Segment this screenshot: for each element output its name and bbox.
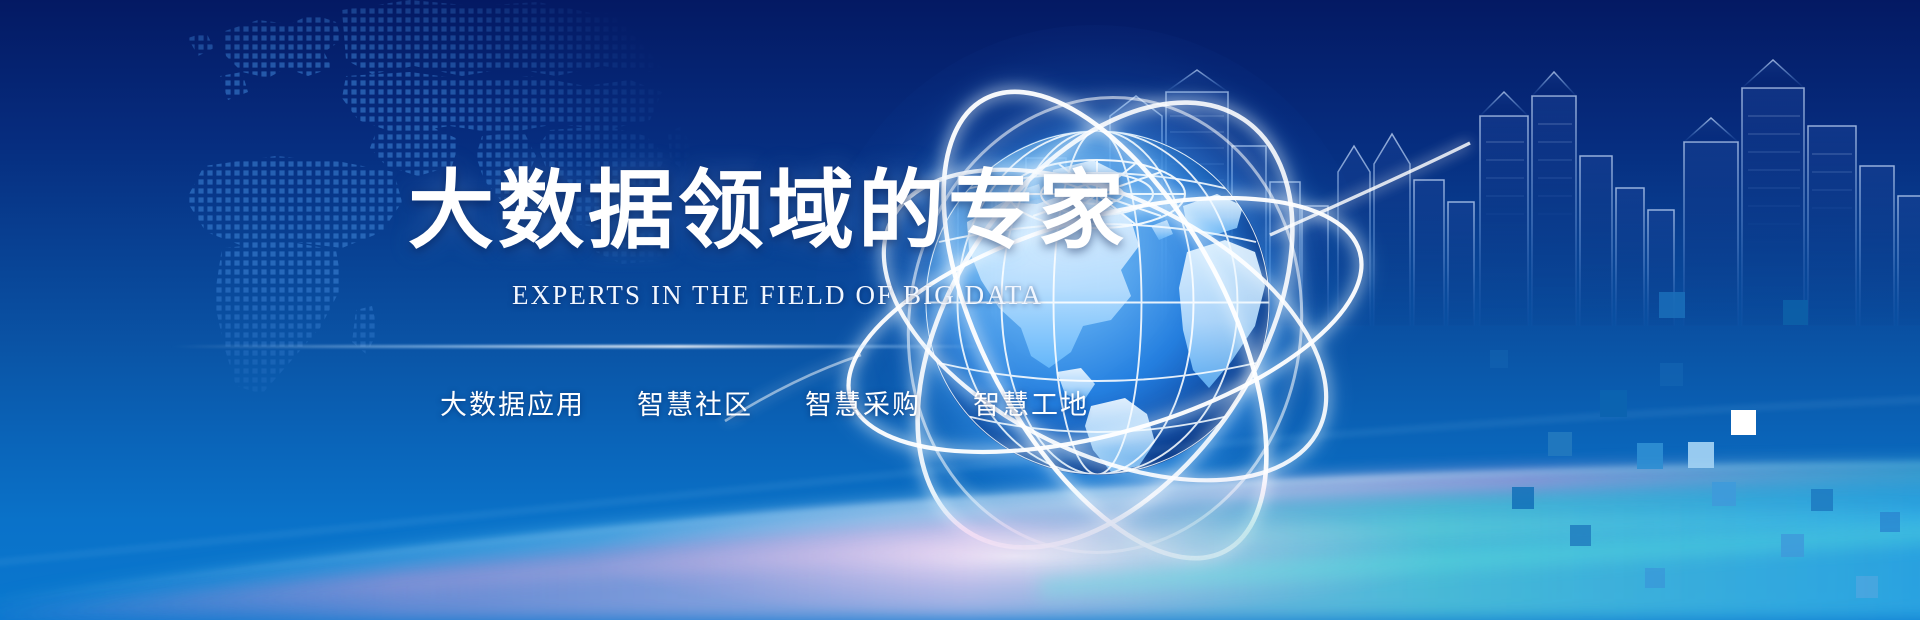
mosaic-square — [1731, 410, 1756, 435]
mosaic-square — [1688, 442, 1714, 468]
mosaic-square — [1856, 576, 1878, 598]
mosaic-square — [1548, 432, 1572, 456]
mosaic-square — [1637, 443, 1663, 469]
mosaic-square — [1570, 525, 1591, 546]
mosaic-square — [1880, 512, 1900, 532]
banner-subtitle: EXPERTS IN THE FIELD OF BIG DATA — [512, 280, 1043, 311]
mosaic-square — [1783, 300, 1808, 325]
divider — [170, 345, 990, 348]
page-title: 大数据领域的专家 — [408, 166, 1128, 256]
mosaic-square — [1600, 390, 1627, 417]
mosaic-square — [1659, 292, 1685, 318]
mosaic-square — [1645, 568, 1665, 588]
mosaic-square — [1660, 363, 1683, 386]
mosaic-square — [1712, 482, 1736, 506]
nav-item-smart-construction[interactable]: 智慧工地 — [973, 383, 1089, 422]
hero-banner: 大数据领域的专家 EXPERTS IN THE FIELD OF BIG DAT… — [0, 0, 1920, 620]
mosaic-square — [1490, 350, 1508, 368]
mosaic-square — [1512, 487, 1534, 509]
mosaic-square — [1781, 534, 1804, 557]
nav-item-big-data-application[interactable]: 大数据应用 — [440, 383, 585, 422]
banner-nav: 大数据应用 智慧社区 智慧采购 智慧工地 — [440, 383, 1089, 422]
banner-text-block: 大数据领域的专家 EXPERTS IN THE FIELD OF BIG DAT… — [0, 0, 1100, 620]
mosaic-square — [1811, 489, 1833, 511]
nav-item-smart-community[interactable]: 智慧社区 — [637, 383, 753, 422]
nav-item-smart-procurement[interactable]: 智慧采购 — [805, 383, 921, 422]
